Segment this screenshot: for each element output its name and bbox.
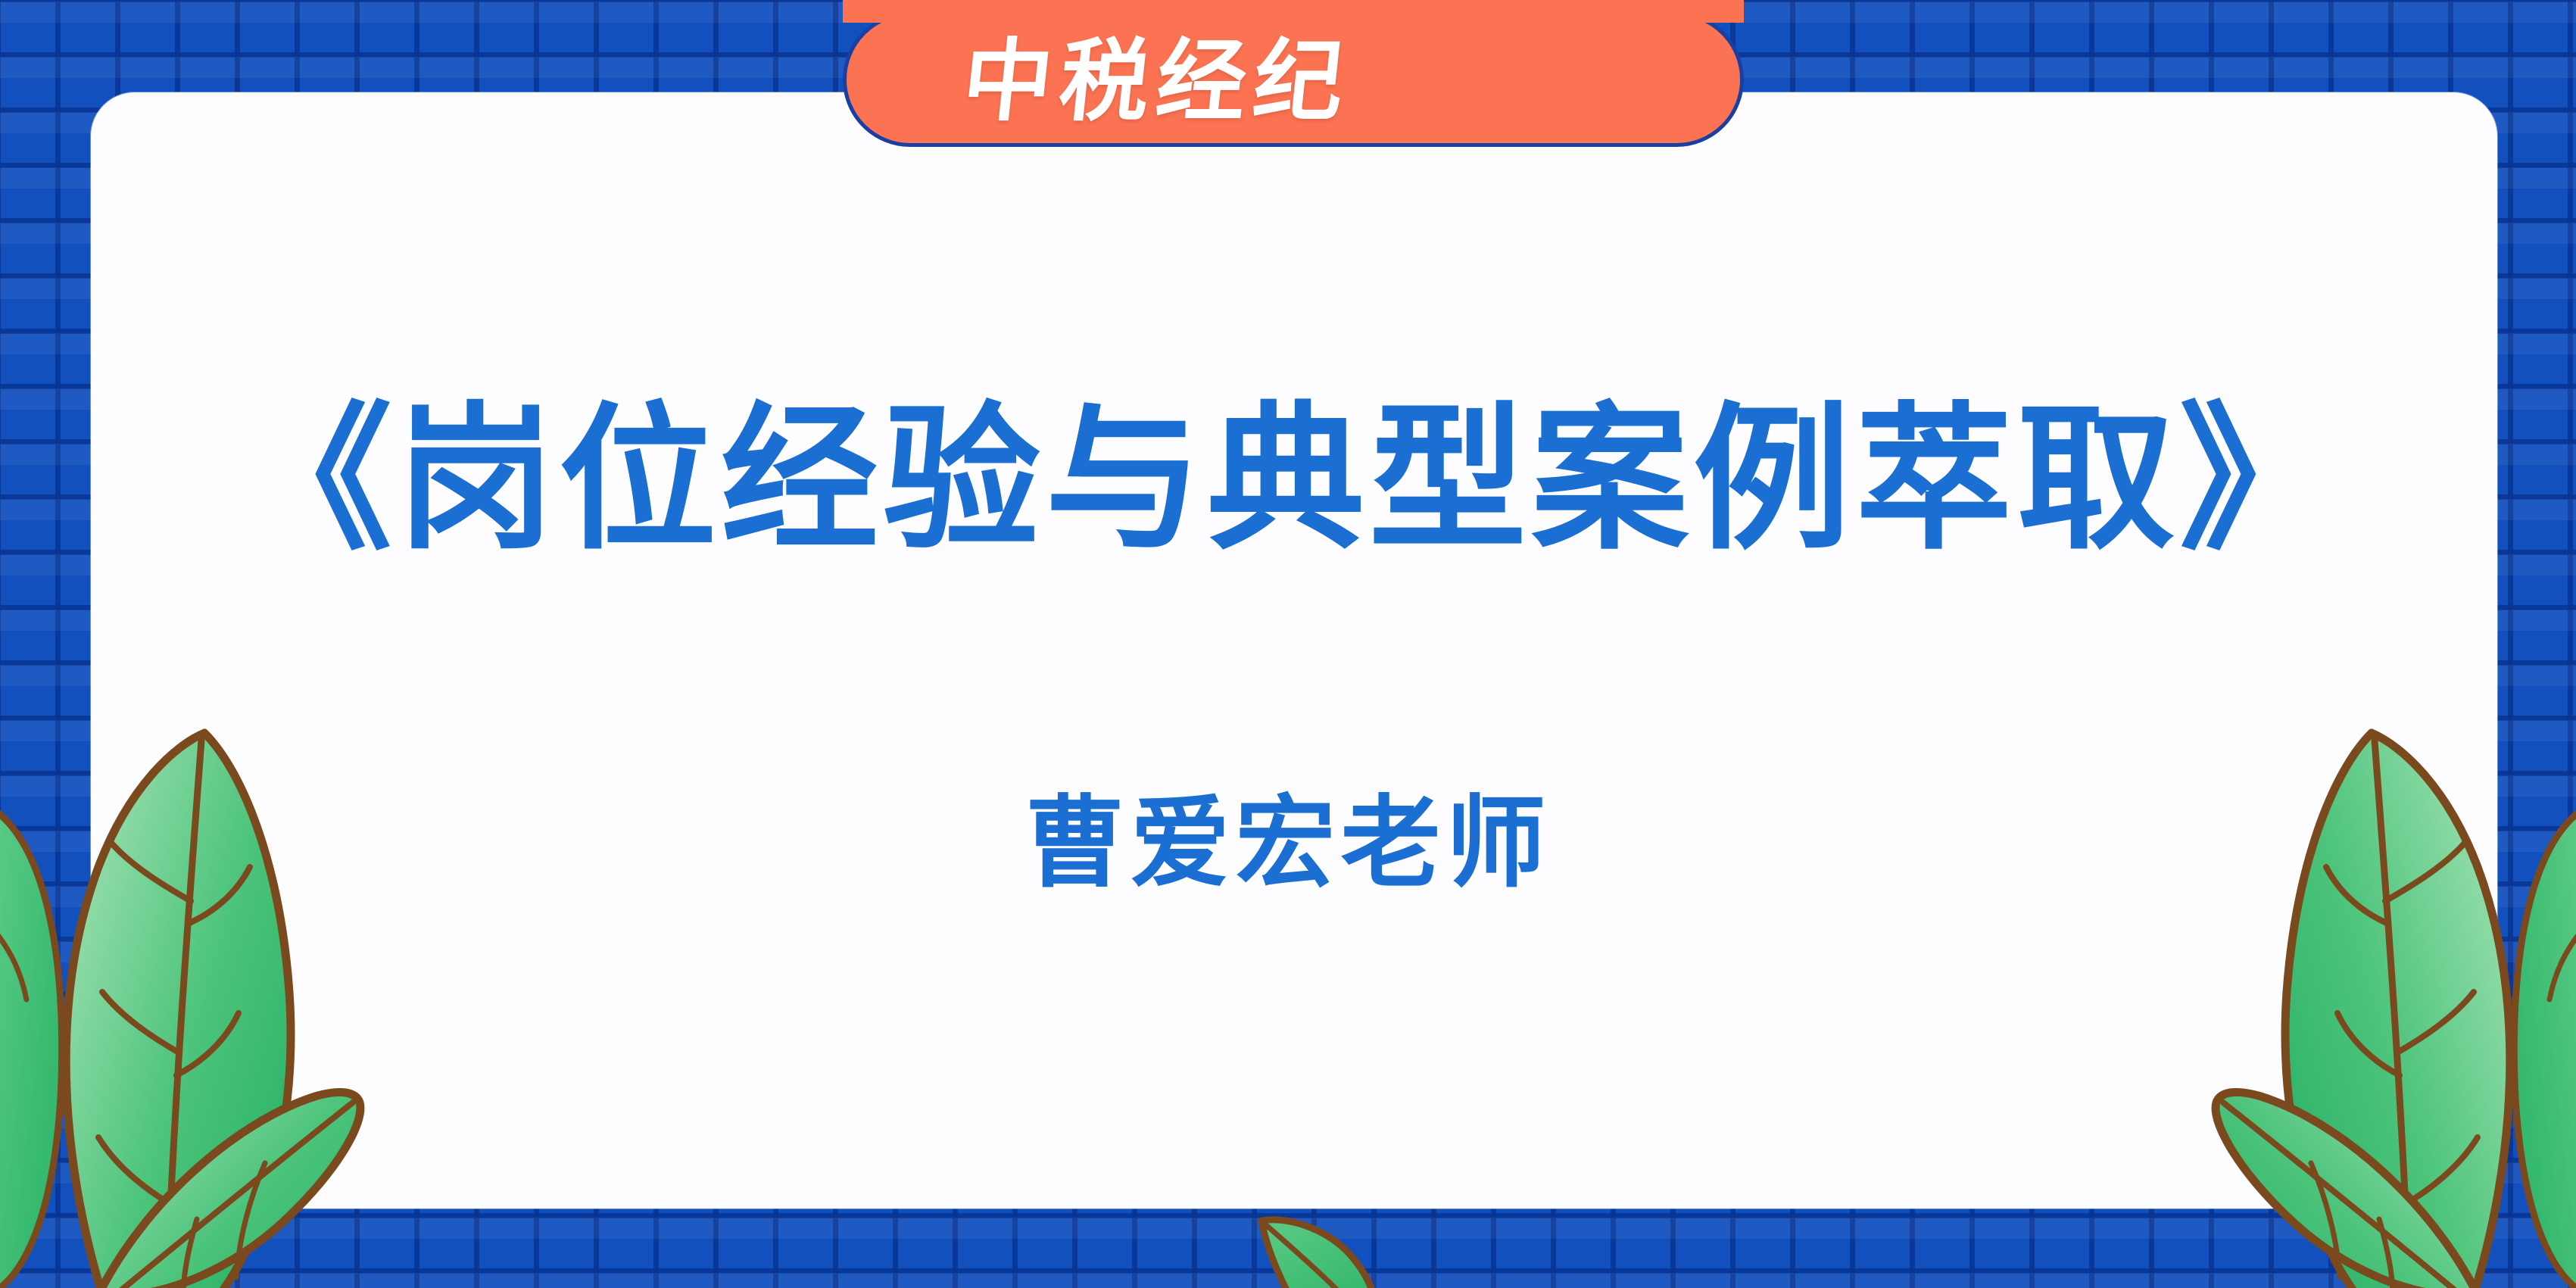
- presentation-slide: 中税经纪 《岗位经验与典型案例萃取》 曹爱宏老师: [0, 0, 2576, 1288]
- content-card: [91, 92, 2497, 1208]
- brand-badge: 中税经纪: [843, 12, 1744, 147]
- badge-top-fill: [843, 0, 1744, 23]
- brand-badge-label: 中税经纪: [951, 37, 1355, 126]
